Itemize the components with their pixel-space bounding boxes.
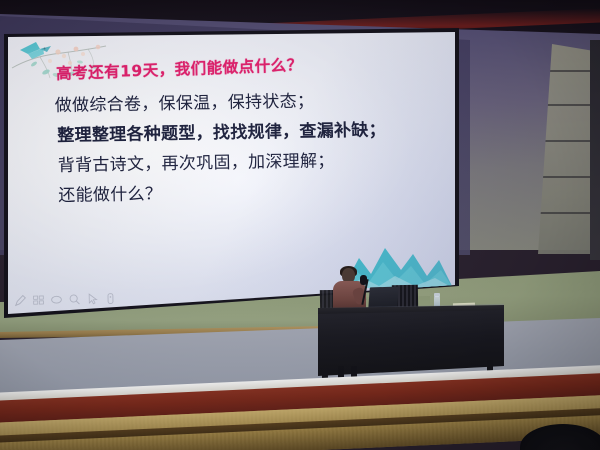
more-options-icon[interactable] <box>104 292 117 305</box>
slide-line-2: 整理整理各种题型，找找规律，查漏补缺； <box>57 114 437 146</box>
microphone-icon <box>360 275 367 285</box>
presentation-toolbar[interactable] <box>14 292 117 307</box>
auditorium-scene: 高考还有19天，我们能做点什么？ 做做综合卷，保保温，保持状态； 整理整理各种题… <box>0 0 600 450</box>
cursor-arrow-icon[interactable] <box>86 292 99 305</box>
wall-right-edge <box>590 40 600 260</box>
pen-icon[interactable] <box>14 294 27 307</box>
slide-line-1: 做做综合卷，保保温，保持状态； <box>55 84 437 116</box>
projection-screen: 高考还有19天，我们能做点什么？ 做做综合卷，保保温，保持状态； 整理整理各种题… <box>8 32 455 314</box>
slides-grid-icon[interactable] <box>32 293 45 306</box>
slide-line-4: 还能做什么？ <box>58 174 438 206</box>
slide-line-3: 背背古诗文，再次巩固，加深理解； <box>58 144 438 176</box>
magnifier-icon[interactable] <box>68 293 81 306</box>
slide-text-block: 高考还有19天，我们能做点什么？ 做做综合卷，保保温，保持状态； 整理整理各种题… <box>56 55 439 211</box>
ellipse-icon[interactable] <box>50 293 63 306</box>
